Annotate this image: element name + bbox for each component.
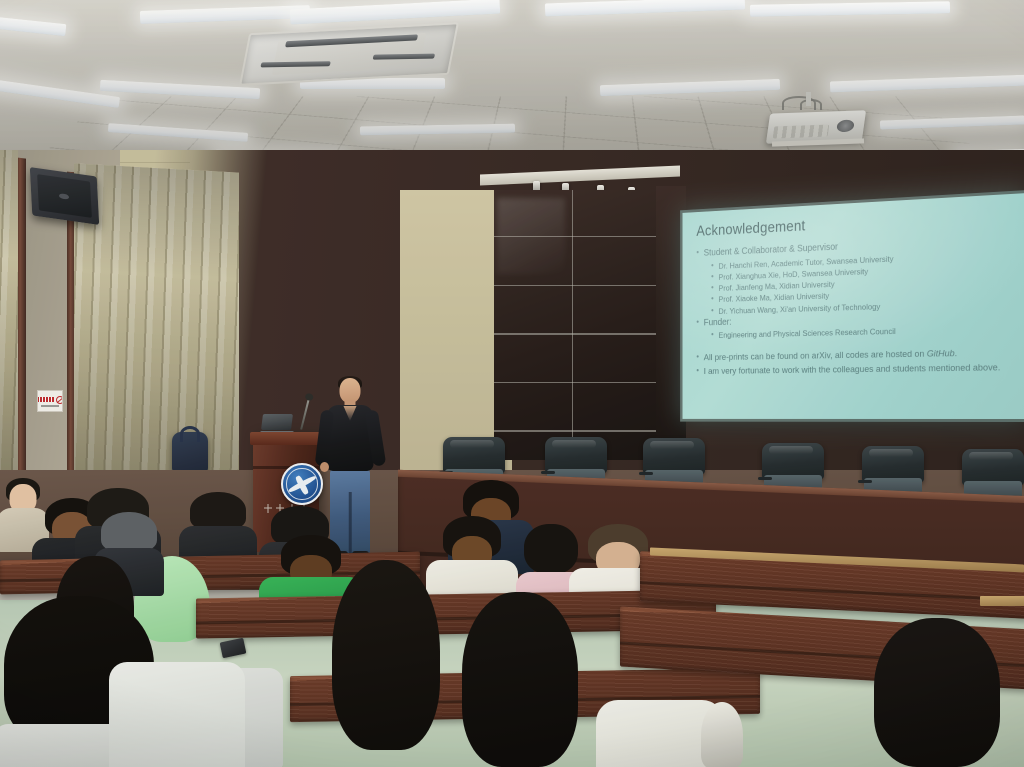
list-item	[112, 662, 242, 767]
list-item	[330, 560, 442, 767]
sign-red-text	[37, 397, 54, 402]
attendee-hair	[190, 492, 246, 530]
chair-backrest	[443, 437, 505, 473]
no-smoking-icon	[56, 396, 64, 404]
attendee-bag	[701, 702, 743, 767]
chair-highlight	[869, 449, 912, 457]
chair-highlight	[450, 440, 493, 448]
list-item	[460, 592, 580, 767]
panel-gridline	[494, 382, 656, 384]
panel-gridline	[494, 236, 656, 238]
sign-subtext	[41, 405, 59, 407]
presenter-hand	[320, 462, 329, 472]
attendee-torso	[109, 662, 245, 767]
chair-backrest	[762, 443, 824, 479]
sign-row	[37, 396, 63, 404]
attendee-hair	[101, 512, 157, 552]
window-curtain-left	[0, 150, 18, 510]
panel-gridline	[494, 430, 656, 432]
desk-surface	[980, 596, 1024, 606]
chair-armrest	[858, 480, 872, 483]
panel-gridline	[494, 333, 656, 335]
panel-gridline	[572, 190, 574, 460]
list-item	[872, 618, 1002, 767]
attendee-hair	[332, 560, 440, 750]
podium-lectern-top	[250, 432, 321, 445]
list-item	[700, 702, 744, 767]
screen-frame	[680, 190, 1024, 422]
chair-armrest	[541, 471, 555, 474]
attendee-hair	[874, 618, 1000, 767]
no-smoking-sign	[37, 390, 63, 412]
backpack-strap	[180, 426, 200, 442]
emblem-inner-ring	[286, 468, 317, 499]
chair-highlight	[650, 441, 693, 449]
panel-gridline	[494, 285, 656, 287]
laptop-screen	[261, 414, 293, 430]
chair-backrest	[962, 449, 1024, 485]
wall-speaker	[30, 167, 99, 225]
attendee-hair	[524, 524, 578, 574]
lecture-hall-photo: Acknowledgement Student & Collaborator &…	[0, 0, 1024, 767]
chair-highlight	[552, 440, 595, 448]
curtain-shading	[0, 150, 18, 510]
chair-armrest	[639, 472, 653, 475]
navy-backpack	[172, 432, 208, 474]
chair-armrest	[758, 477, 772, 480]
chair-backrest	[545, 437, 607, 473]
chair-highlight	[969, 452, 1012, 460]
chair-backrest	[643, 438, 705, 474]
chair-highlight	[769, 446, 812, 454]
projection-screen: Acknowledgement Student & Collaborator &…	[680, 190, 1024, 422]
stage-dark-panel	[494, 190, 656, 460]
university-emblem	[281, 463, 323, 505]
attendee-hair	[462, 592, 578, 767]
chair-backrest	[862, 446, 924, 482]
